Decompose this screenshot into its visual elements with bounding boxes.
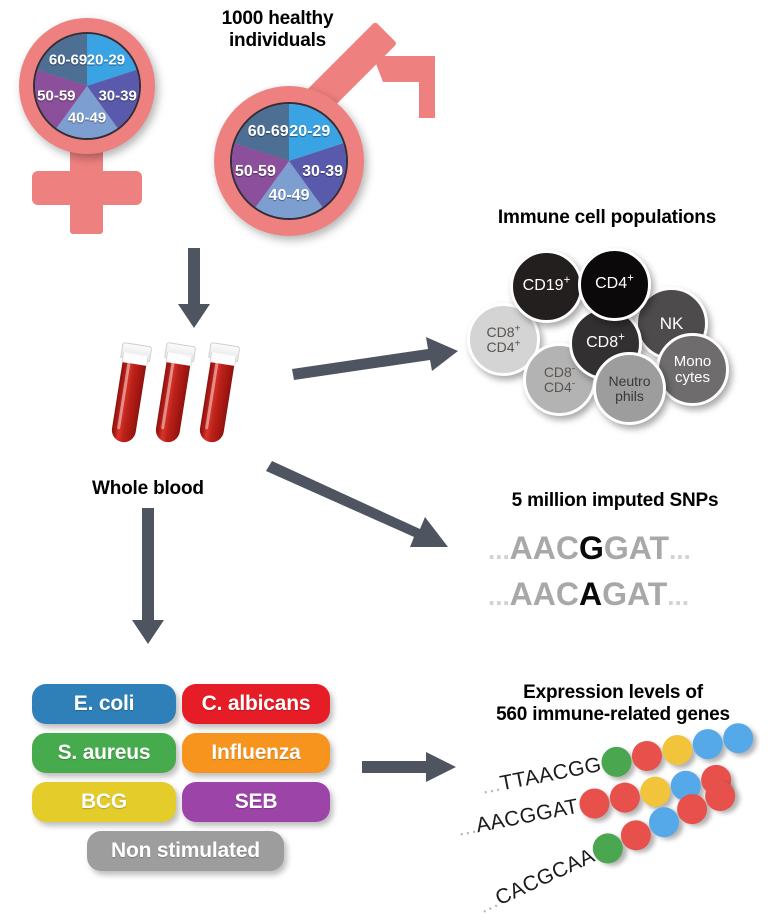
- pie-label-30-39: 30-39: [302, 163, 343, 181]
- blood-tubes: [104, 330, 244, 455]
- female-symbol: 20-2930-3940-4950-5960-69: [8, 14, 178, 239]
- pie-label-30-39: 30-39: [98, 87, 136, 104]
- pie-label-60-69: 60-69: [248, 123, 289, 141]
- blood-tube: [152, 333, 197, 444]
- blood-tube: [196, 333, 241, 444]
- arrow-to-immune-cells: [290, 335, 460, 383]
- snp-left: AAC: [510, 576, 579, 613]
- stimulus-non-stimulated[interactable]: Non stimulated: [87, 831, 284, 871]
- gene-chain-sequence: ...AACGGAT: [456, 795, 581, 842]
- expression-bead: [577, 786, 612, 821]
- expression-bead: [599, 744, 634, 779]
- stimulus-e-coli[interactable]: E. coli: [32, 684, 176, 724]
- stimulus-seb[interactable]: SEB: [182, 782, 330, 822]
- whole-blood-label: Whole blood: [92, 478, 204, 500]
- snp-prefix: ...: [488, 581, 510, 612]
- arrow-to-blood: [176, 248, 212, 330]
- female-age-pie: 20-2930-3940-4950-5960-69: [33, 32, 141, 140]
- expression-bead: [691, 726, 726, 761]
- arrow-to-snps: [270, 455, 450, 555]
- male-symbol: 20-2930-3940-4950-5960-69: [205, 40, 435, 245]
- gene-chain-sequence: ...CACGCAA: [475, 844, 599, 919]
- expression-heading-line1: Expression levels of: [458, 682, 768, 704]
- pie-label-50-59: 50-59: [235, 163, 276, 181]
- arrow-to-expression: [362, 752, 458, 782]
- stimulus-s-aureus[interactable]: S. aureus: [32, 733, 176, 773]
- snp-prefix: ...: [488, 535, 510, 566]
- snp-sequence-row: ...AACGGAT...: [488, 530, 691, 567]
- expression-bead: [660, 732, 695, 767]
- snp-suffix: ...: [667, 581, 689, 612]
- expression-bead: [630, 738, 665, 773]
- snp-variant: G: [579, 530, 604, 567]
- bubble-neutrophils: Neutrophils: [593, 352, 666, 425]
- snps-heading: 5 million imputed SNPs: [470, 490, 760, 512]
- snp-variant: A: [579, 576, 602, 613]
- expression-bead: [607, 780, 642, 815]
- pie-label-40-49: 40-49: [269, 187, 310, 205]
- pie-label-60-69: 60-69: [49, 51, 87, 68]
- female-stem-horizontal: [32, 171, 142, 205]
- gene-chains: ...TTAACGG ...AACGGAT ...CACGCAA: [460, 735, 771, 915]
- male-arrowhead: [357, 44, 443, 130]
- snp-suffix: ...: [669, 535, 691, 566]
- snp-right: GAT: [604, 530, 669, 567]
- bubble-cd4pos: CD4+: [578, 248, 651, 321]
- pie-label-40-49: 40-49: [68, 110, 106, 127]
- stimulus-bcg[interactable]: BCG: [32, 782, 176, 822]
- snp-left: AAC: [510, 530, 579, 567]
- male-age-pie: 20-2930-3940-4950-5960-69: [230, 102, 348, 220]
- bubble-monocytes: Monocytes: [656, 333, 729, 406]
- snp-sequences: ...AACGGAT... ...AACAGAT...: [470, 528, 760, 624]
- stimuli-grid: E. coli C. albicans S. aureus Influenza …: [30, 684, 335, 884]
- pie-label-50-59: 50-59: [37, 87, 75, 104]
- stimulus-c-albicans[interactable]: C. albicans: [182, 684, 330, 724]
- expression-bead: [721, 721, 756, 756]
- pie-label-20-29: 20-29: [87, 51, 125, 68]
- arrow-to-stimuli: [130, 508, 166, 646]
- expression-heading-line2: 560 immune-related genes: [458, 704, 768, 726]
- expression-heading: Expression levels of 560 immune-related …: [458, 682, 768, 727]
- snp-sequence-row: ...AACAGAT...: [488, 576, 689, 613]
- snp-right: GAT: [602, 576, 667, 613]
- immune-cell-cluster: CD8+CD4+ CD19+ CD4+ NK CD8+ CD8-CD4- Neu…: [450, 245, 771, 420]
- stimulus-influenza[interactable]: Influenza: [182, 733, 330, 773]
- bubble-cd19pos: CD19+: [510, 250, 583, 323]
- pie-label-20-29: 20-29: [289, 123, 330, 141]
- blood-tube: [108, 333, 153, 444]
- immune-heading: Immune cell populations: [452, 207, 762, 229]
